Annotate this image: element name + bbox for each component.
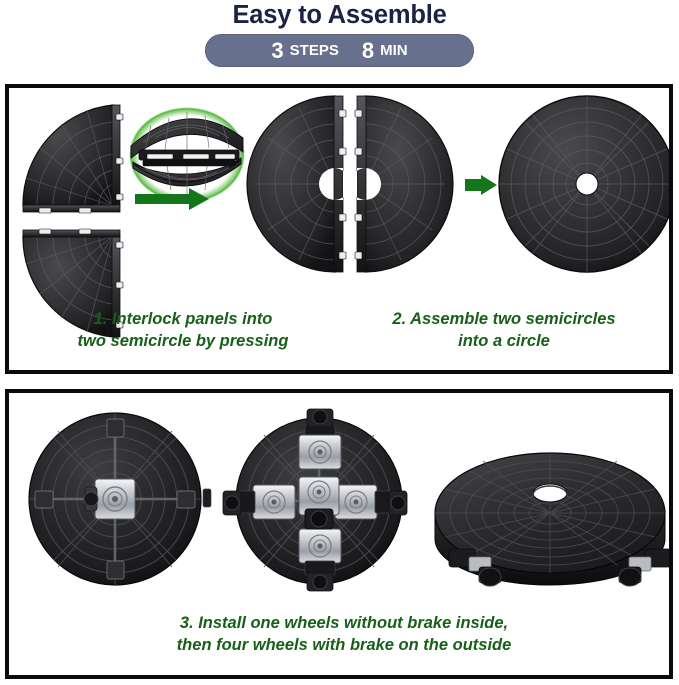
caster-wheel-top xyxy=(299,409,341,469)
base-perspective-assembled-figure xyxy=(435,453,669,586)
base-underside-single-wheel-figure xyxy=(29,413,211,585)
caption-step-2-line1: 2. Assemble two semicircles xyxy=(349,308,659,330)
arrow-right-icon-2 xyxy=(465,175,497,195)
caption-step-2: 2. Assemble two semicircles into a circl… xyxy=(349,308,659,352)
caption-step-3-line1: 3. Install one wheels without brake insi… xyxy=(64,612,624,634)
badge-steps-label: STEPS xyxy=(290,43,339,58)
interlock-detail-inset-figure xyxy=(129,107,245,203)
caption-step-2-line2: into a circle xyxy=(349,330,659,352)
caption-step-3-line2: then four wheels with brake on the outsi… xyxy=(64,634,624,656)
panel-2-stage: 3. Install one wheels without brake insi… xyxy=(9,393,669,675)
page-title: Easy to Assemble xyxy=(0,1,679,29)
badge-minutes-label: MIN xyxy=(380,43,408,58)
base-underside-five-wheels-figure xyxy=(223,409,407,591)
caption-step-3: 3. Install one wheels without brake insi… xyxy=(64,612,624,656)
assembled-circle-figure xyxy=(499,96,669,272)
wheel-edge-hint xyxy=(203,489,211,507)
step-panel-1: 1. Interlock panels into two semicircle … xyxy=(5,84,673,374)
step-panel-2: 3. Install one wheels without brake insi… xyxy=(5,389,673,679)
semicircle-right-figure xyxy=(350,96,453,272)
badge-minutes-value: 8 xyxy=(362,40,374,62)
header: Easy to Assemble 3 STEPS 8 MIN xyxy=(0,0,679,80)
caption-step-1: 1. Interlock panels into two semicircle … xyxy=(33,308,333,352)
badge-steps-value: 3 xyxy=(271,40,283,62)
semicircle-left-figure xyxy=(247,96,350,272)
caster-wheel-left xyxy=(223,485,295,519)
caption-step-1-line1: 1. Interlock panels into xyxy=(33,308,333,330)
status-badge: 3 STEPS 8 MIN xyxy=(205,34,474,67)
caster-wheel-center-nobrake xyxy=(299,477,339,529)
caption-step-1-line2: two semicircle by pressing xyxy=(33,330,333,352)
panel-1-stage: 1. Interlock panels into two semicircle … xyxy=(9,88,669,370)
